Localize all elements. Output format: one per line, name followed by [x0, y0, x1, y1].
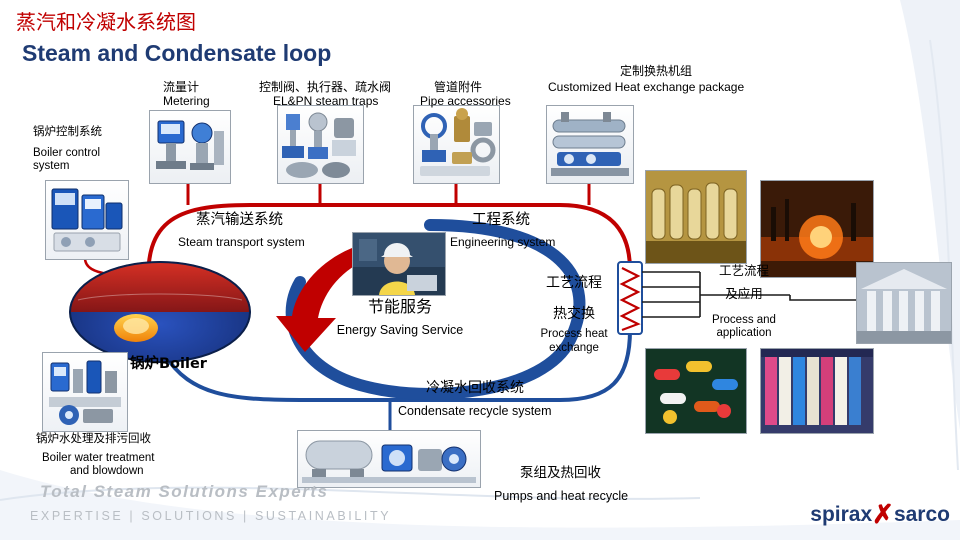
label-metering-en: Metering — [163, 94, 255, 108]
label-pipe-accessories-en: Pipe accessories — [420, 94, 550, 108]
pipe-accessories-photo — [413, 105, 500, 184]
label-process-application-en2: application — [694, 327, 794, 341]
label-engineering: 工程系统 Engineering system — [450, 212, 600, 249]
label-condensate-recycle: 冷凝水回收系统 Condensate recycle system — [398, 380, 598, 418]
water-treatment-photo — [42, 352, 128, 432]
textile-photo — [760, 348, 874, 434]
label-condensate-recycle-cn: 冷凝水回收系统 — [426, 380, 598, 397]
label-process-heat-exchange: 工艺流程 热交换 Process heat exchange — [528, 275, 620, 355]
label-heat-exchange-package-cn: 定制换热机组 — [620, 64, 788, 78]
label-heat-exchange-package-en: Customized Heat exchange package — [548, 80, 788, 94]
label-engineering-cn: 工程系统 — [472, 212, 600, 229]
label-boiler-water-en2: and blowdown — [70, 465, 192, 479]
label-boiler-control-cn: 锅炉控制系统 — [33, 125, 129, 139]
label-process-application-cn1: 工艺流程 — [694, 264, 794, 279]
label-process-application-en1: Process and — [694, 314, 794, 328]
label-pumps: 泵组及热回收 Pumps and heat recycle — [494, 466, 664, 504]
label-steam-transport-cn: 蒸汽输送系统 — [196, 212, 358, 229]
label-steam-transport: 蒸汽输送系统 Steam transport system — [178, 212, 358, 249]
label-boiler-water-en1: Boiler water treatment — [42, 452, 192, 466]
label-engineering-en: Engineering system — [450, 235, 600, 249]
label-boiler-control-en: Boiler control system — [33, 147, 129, 174]
label-energy-saving-cn: 节能服务 — [320, 298, 480, 317]
label-condensate-recycle-en: Condensate recycle system — [398, 404, 598, 419]
label-pumps-cn: 泵组及热回收 — [520, 466, 664, 482]
label-metering: 流量计 Metering — [163, 80, 255, 108]
logo-text-left: spirax — [810, 503, 872, 526]
pumps-photo — [297, 430, 481, 488]
subtagline: EXPERTISE | SOLUTIONS | SUSTAINABILITY — [30, 509, 391, 523]
label-boiler-control: 锅炉控制系统 Boiler control system — [33, 125, 129, 174]
metering-photo — [149, 110, 231, 184]
label-process-heat-en2: exchange — [528, 342, 620, 356]
boiler-control-panel-photo — [45, 180, 129, 260]
label-heat-exchange-package: 定制换热机组 Customized Heat exchange package — [548, 64, 788, 94]
label-process-heat-cn1: 工艺流程 — [528, 275, 620, 292]
logo-x-icon: ✗ — [872, 499, 894, 529]
valves-traps-photo — [277, 105, 364, 184]
page-title-cn: 蒸汽和冷凝水系统图 — [16, 6, 196, 35]
building-photo — [856, 262, 952, 344]
label-boiler-water-cn: 锅炉水处理及排污回收 — [36, 432, 192, 446]
label-boiler: 锅炉Boiler — [130, 352, 207, 373]
label-process-heat-cn2: 热交换 — [528, 306, 620, 323]
label-traps: 控制阀、执行器、疏水阀 EL&PN steam traps — [259, 80, 419, 108]
tagline: Total Steam Solutions Experts — [40, 482, 328, 502]
label-process-application-cn2: 及应用 — [694, 287, 794, 302]
process-bottles-photo — [645, 170, 747, 264]
pharma-photo — [645, 348, 747, 434]
label-pipe-accessories: 管道附件 Pipe accessories — [420, 80, 550, 108]
label-steam-transport-en: Steam transport system — [178, 235, 358, 249]
label-boiler-water: 锅炉水处理及排污回收 Boiler water treatment and bl… — [32, 432, 192, 479]
label-pumps-en: Pumps and heat recycle — [494, 489, 664, 504]
label-energy-saving-en: Energy Saving Service — [320, 323, 480, 338]
engineering-service-photo — [352, 232, 446, 296]
page-title-en: Steam and Condensate loop — [22, 40, 331, 67]
label-process-heat-en1: Process heat — [528, 328, 620, 342]
label-metering-cn: 流量计 — [163, 80, 255, 94]
heat-exchange-package-photo — [546, 105, 634, 184]
logo-text-right: sarco — [894, 503, 950, 526]
label-pipe-accessories-cn: 管道附件 — [434, 80, 550, 94]
slide-canvas: 蒸汽和冷凝水系统图 Steam and Condensate loop — [0, 0, 960, 540]
label-traps-en: EL&PN steam traps — [273, 94, 419, 108]
label-process-application: 工艺流程 及应用 Process and application — [694, 264, 794, 341]
company-logo: spirax✗sarco — [810, 499, 950, 530]
label-traps-cn: 控制阀、执行器、疏水阀 — [259, 80, 419, 94]
label-energy-saving: 节能服务 Energy Saving Service — [320, 298, 480, 338]
